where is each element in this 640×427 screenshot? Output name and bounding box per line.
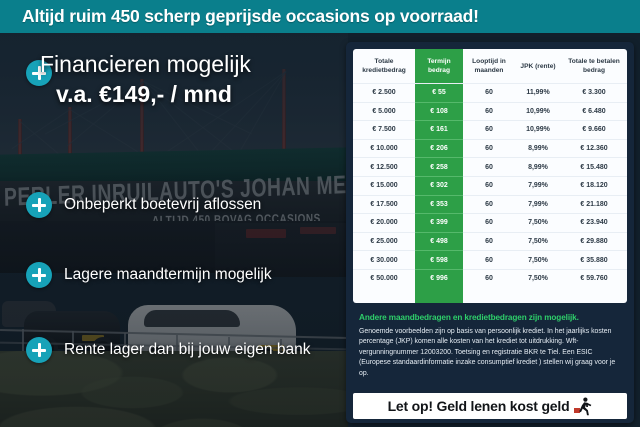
bullet-item-3: Rente lager dan bij jouw eigen bank: [26, 337, 310, 363]
table-row: € 5.000€ 1086010,99%€ 6.480: [353, 102, 627, 121]
plus-icon: [26, 262, 52, 288]
cell-termijn: € 598: [415, 251, 463, 270]
cell-termijn: € 996: [415, 269, 463, 287]
rate-table: Totale kredietbedrag Termijn bedrag Loop…: [353, 49, 627, 288]
cell-krediet: € 30.000: [353, 251, 415, 270]
cell-jkp: 7,50%: [515, 214, 561, 233]
cell-totaal: € 12.360: [561, 139, 627, 158]
cell-termijn: € 302: [415, 176, 463, 195]
cell-looptijd: 60: [463, 176, 515, 195]
disclaimer-block: Andere maandbedragen en kredietbedragen …: [353, 303, 627, 379]
cell-looptijd: 60: [463, 232, 515, 251]
cell-looptijd: 60: [463, 251, 515, 270]
cell-termijn: € 399: [415, 214, 463, 233]
bullet-label: Lagere maandtermijn mogelijk: [64, 266, 272, 284]
cell-termijn: € 108: [415, 102, 463, 121]
col-header-totaal: Totale te betalen bedrag: [561, 49, 627, 84]
cell-jkp: 8,99%: [515, 139, 561, 158]
cell-jkp: 7,50%: [515, 269, 561, 287]
cell-jkp: 7,99%: [515, 195, 561, 214]
cell-termijn: € 206: [415, 139, 463, 158]
promo-banner-image: PERLER INRUILAUTO'S JOHAN MEURS ALTIJD 4…: [0, 0, 640, 427]
col-header-looptijd: Looptijd in maanden: [463, 49, 515, 84]
plus-icon: [26, 192, 52, 218]
cell-termijn: € 161: [415, 121, 463, 140]
cell-termijn: € 498: [415, 232, 463, 251]
bullet-label: Onbeperkt boetevrij aflossen: [64, 196, 261, 214]
cell-termijn: € 258: [415, 158, 463, 177]
cell-totaal: € 35.880: [561, 251, 627, 270]
bullet-item-1: Onbeperkt boetevrij aflossen: [26, 192, 261, 218]
cell-totaal: € 23.940: [561, 214, 627, 233]
warning-text: Let op! Geld lenen kost geld: [388, 398, 570, 414]
cell-totaal: € 21.180: [561, 195, 627, 214]
cell-krediet: € 20.000: [353, 214, 415, 233]
cell-krediet: € 2.500: [353, 84, 415, 103]
table-row: € 15.000€ 302607,99%€ 18.120: [353, 176, 627, 195]
table-row: € 50.000€ 996607,50%€ 59.760: [353, 269, 627, 287]
table-row: € 30.000€ 598607,50%€ 35.880: [353, 251, 627, 270]
cell-looptijd: 60: [463, 158, 515, 177]
cell-totaal: € 9.660: [561, 121, 627, 140]
banner-headline: Altijd ruim 450 scherp geprijsde occasio…: [0, 6, 479, 27]
cell-looptijd: 60: [463, 102, 515, 121]
table-row: € 17.500€ 353607,99%€ 21.180: [353, 195, 627, 214]
cell-totaal: € 59.760: [561, 269, 627, 287]
rate-table-panel: Totale kredietbedrag Termijn bedrag Loop…: [353, 49, 627, 303]
cell-krediet: € 25.000: [353, 232, 415, 251]
cell-totaal: € 29.880: [561, 232, 627, 251]
cell-krediet: € 5.000: [353, 102, 415, 121]
table-row: € 25.000€ 498607,50%€ 29.880: [353, 232, 627, 251]
headline-line-2: v.a. €149,- / mnd: [40, 79, 340, 109]
cell-termijn: € 353: [415, 195, 463, 214]
cell-totaal: € 18.120: [561, 176, 627, 195]
cell-krediet: € 7.500: [353, 121, 415, 140]
cell-looptijd: 60: [463, 195, 515, 214]
cell-totaal: € 6.480: [561, 102, 627, 121]
cell-krediet: € 12.500: [353, 158, 415, 177]
cell-jkp: 10,99%: [515, 102, 561, 121]
plus-icon: [26, 337, 52, 363]
cell-krediet: € 15.000: [353, 176, 415, 195]
cell-looptijd: 60: [463, 214, 515, 233]
cell-looptijd: 60: [463, 84, 515, 103]
table-row: € 7.500€ 1616010,99%€ 9.660: [353, 121, 627, 140]
bullet-item-2: Lagere maandtermijn mogelijk: [26, 262, 272, 288]
cell-jkp: 11,99%: [515, 84, 561, 103]
cell-krediet: € 10.000: [353, 139, 415, 158]
cell-termijn: € 55: [415, 84, 463, 103]
table-row: € 2.500€ 556011,99%€ 3.300: [353, 84, 627, 103]
disclaimer-body: Genoemde voorbeelden zijn op basis van p…: [359, 327, 621, 379]
rate-table-body: € 2.500€ 556011,99%€ 3.300€ 5.000€ 10860…: [353, 84, 627, 288]
table-row: € 12.500€ 258608,99%€ 15.480: [353, 158, 627, 177]
finance-card: Totale kredietbedrag Termijn bedrag Loop…: [346, 42, 634, 423]
table-header-row: Totale kredietbedrag Termijn bedrag Loop…: [353, 49, 627, 84]
cell-looptijd: 60: [463, 121, 515, 140]
bullet-label: Rente lager dan bij jouw eigen bank: [64, 341, 310, 359]
cell-jkp: 8,99%: [515, 158, 561, 177]
headline-line-1: Financieren mogelijk: [40, 49, 340, 79]
col-header-jkp: JPK (rente): [515, 49, 561, 84]
col-header-krediet: Totale kredietbedrag: [353, 49, 415, 84]
disclaimer-heading: Andere maandbedragen en kredietbedragen …: [359, 313, 621, 322]
col-header-termijn: Termijn bedrag: [415, 49, 463, 84]
cell-jkp: 7,99%: [515, 176, 561, 195]
cell-krediet: € 17.500: [353, 195, 415, 214]
cell-looptijd: 60: [463, 269, 515, 287]
cell-jkp: 10,99%: [515, 121, 561, 140]
running-man-icon: [574, 397, 592, 416]
cell-jkp: 7,50%: [515, 251, 561, 270]
warning-bar: Let op! Geld lenen kost geld: [353, 393, 627, 419]
table-row: € 10.000€ 206608,99%€ 12.360: [353, 139, 627, 158]
promo-left-column: Financieren mogelijk v.a. €149,- / mnd O…: [0, 33, 348, 427]
top-banner: Altijd ruim 450 scherp geprijsde occasio…: [0, 0, 640, 33]
promo-headline: Financieren mogelijk v.a. €149,- / mnd: [40, 49, 340, 109]
cell-totaal: € 15.480: [561, 158, 627, 177]
cell-totaal: € 3.300: [561, 84, 627, 103]
table-row: € 20.000€ 399607,50%€ 23.940: [353, 214, 627, 233]
cell-krediet: € 50.000: [353, 269, 415, 287]
cell-jkp: 7,50%: [515, 232, 561, 251]
cell-looptijd: 60: [463, 139, 515, 158]
